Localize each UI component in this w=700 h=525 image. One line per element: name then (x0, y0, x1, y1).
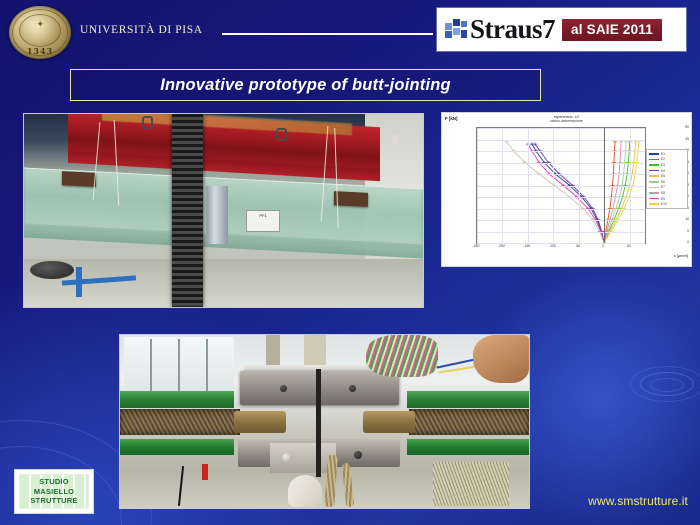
chart-title-line1: esperimento 1/2 (554, 115, 580, 119)
seal-glyph: ✦ (9, 20, 71, 30)
chart-legend-label: E10 (661, 202, 667, 206)
steel-cable-right (409, 409, 529, 435)
steel-cable-left (120, 409, 240, 435)
slide-header: ✦ 1343 UNIVERSITÀ DI PISA Straus7 al SAI… (0, 0, 700, 60)
chart-legend-label: E6 (661, 180, 665, 184)
photo-dark-disc (30, 261, 74, 279)
seal-inner-ring (19, 14, 61, 47)
chart-title: esperimento 1/2 carico-deformazione (442, 115, 691, 124)
university-seal-icon: ✦ 1343 (9, 6, 71, 59)
joint-bolt-left (280, 385, 287, 392)
window-mullion-2 (178, 339, 180, 393)
logo-line-2: MASIELLO (34, 487, 74, 496)
chart-data-marker (533, 143, 537, 146)
chart-series-line (528, 144, 604, 243)
butt-joint-gap (316, 369, 321, 477)
joint-bolt-right (349, 385, 356, 392)
chart-legend-label: E7 (661, 185, 665, 189)
beam-support-right (334, 191, 368, 207)
green-profile-lower-left (120, 439, 234, 455)
specimen-label-tag: PF1 (246, 210, 280, 232)
background-window (124, 337, 234, 393)
beam-support-left (62, 171, 96, 187)
chart-y-tick-label: 0 (659, 240, 691, 244)
chart-legend-swatch (649, 192, 659, 194)
chart-legend: E1E2E3E4E5E6E7E8E9E10 (646, 149, 688, 209)
university-name: UNIVERSITÀ DI PISA (80, 24, 203, 36)
chart-x-tick-label: -100 (549, 244, 556, 248)
chart-legend-swatch (649, 153, 659, 155)
chart-legend-swatch (649, 198, 659, 200)
chart-gridline-v (528, 128, 529, 243)
lifting-hook-left (142, 116, 153, 129)
green-profile-upper-right (407, 391, 529, 408)
instrumentation-wire-bundle (366, 335, 438, 377)
chart-legend-swatch (649, 181, 659, 183)
chart-legend-swatch (649, 170, 659, 172)
chart-y-tick-label: 45 (659, 137, 691, 141)
ripple-decoration-1 (640, 372, 694, 396)
lifting-hook-right (276, 128, 287, 141)
green-profile-lower-right (407, 439, 529, 455)
grid-squares-icon (445, 19, 467, 41)
seal-year: 1343 (9, 46, 71, 56)
chart-y-tick-label: 10 (659, 217, 691, 221)
chart-zero-axis (604, 128, 605, 243)
chart-data-marker (504, 140, 508, 143)
chart-x-tick-label: -50 (575, 244, 580, 248)
chart-series-line (532, 144, 604, 243)
chart-legend-label: E3 (661, 163, 665, 167)
photo-butt-joint (119, 334, 530, 509)
chart-gridline-v (502, 128, 503, 243)
chart-legend-label: E8 (661, 191, 665, 195)
chart-series-line (507, 142, 605, 243)
red-clip (202, 464, 208, 480)
window-mullion-1 (150, 339, 152, 393)
cable-sleeve-left (234, 411, 286, 433)
header-divider-line (222, 33, 433, 35)
chart-legend-swatch (649, 203, 659, 205)
chart-legend-label: E2 (661, 157, 665, 161)
hydraulic-jack (206, 186, 228, 244)
chart-x-tick-label: -200 (498, 244, 505, 248)
joint-screw-dark (354, 451, 362, 459)
chart-y-axis-label: F [kN] (445, 116, 457, 121)
white-cone-object (288, 475, 322, 507)
chart-legend-swatch (649, 159, 659, 161)
slide-canvas: ✦ 1343 UNIVERSITÀ DI PISA Straus7 al SAI… (0, 0, 700, 525)
logo-text: STUDIO MASIELLO STRUTTURE (19, 477, 89, 506)
chart-series-line (535, 144, 604, 243)
chart-legend-item[interactable]: E10 (648, 201, 686, 207)
lower-wire-bundle (433, 462, 509, 506)
slide-title-box: Innovative prototype of butt-jointing (70, 69, 541, 101)
chart-gridline-v (477, 128, 478, 243)
chart-x-tick-label: -250 (473, 244, 480, 248)
chart-legend-label: E1 (661, 152, 665, 156)
studio-masiello-logo: STUDIO MASIELLO STRUTTURE (14, 469, 94, 514)
load-strain-chart: esperimento 1/2 carico-deformazione F [k… (441, 112, 692, 267)
chart-data-marker (637, 140, 641, 143)
straus7-wordmark: Straus7 (470, 16, 555, 43)
straus7-logo: Straus7 al SAIE 2011 (437, 8, 686, 51)
logo-line-1: STUDIO (39, 477, 69, 486)
photo-beam-test: CS PF1 (23, 113, 424, 308)
saie-banner: al SAIE 2011 (562, 19, 662, 41)
corrugated-loading-column (172, 114, 203, 307)
cable-sleeve-right (363, 411, 415, 433)
saie-banner-label: al SAIE 2011 (571, 22, 653, 37)
website-url: www.smstrutture.it (588, 494, 688, 508)
operator-arm (473, 335, 529, 383)
ripple-decoration-3 (630, 366, 700, 402)
page-title: Innovative prototype of butt-jointing (160, 76, 451, 95)
chart-data-marker (619, 140, 623, 143)
chart-plot-area (476, 127, 646, 244)
chart-x-tick-label: 50 (627, 244, 631, 248)
chart-y-tick-label: 50 (659, 125, 691, 129)
chart-legend-swatch (649, 175, 659, 177)
chart-legend-label: E9 (661, 197, 665, 201)
ripple-decoration-2 (650, 378, 684, 392)
chart-x-tick-label: 0 (602, 244, 604, 248)
chart-x-tick-label: -150 (524, 244, 531, 248)
chart-legend-swatch (649, 187, 659, 189)
blue-pipe-vertical (76, 267, 82, 297)
chart-legend-label: E5 (661, 174, 665, 178)
chart-y-tick-label: 5 (659, 229, 691, 233)
straus7-logo-inner: Straus7 al SAIE 2011 (437, 12, 686, 47)
chart-data-marker (613, 140, 617, 143)
chart-legend-label: E4 (661, 169, 665, 173)
chart-x-axis-label: ɛ [µm/m] (674, 254, 688, 258)
chart-gridline-v (630, 128, 631, 243)
window-mullion-3 (206, 339, 208, 393)
chart-subtitle: carico-deformazione (550, 119, 583, 123)
joint-screw-light (282, 453, 292, 463)
chart-gridline-v (579, 128, 580, 243)
chart-data-marker (624, 140, 628, 143)
logo-line-3: STRUTTURE (30, 496, 77, 505)
chart-legend-swatch (649, 164, 659, 166)
chart-gridline-v (553, 128, 554, 243)
green-profile-upper-left (120, 391, 234, 408)
